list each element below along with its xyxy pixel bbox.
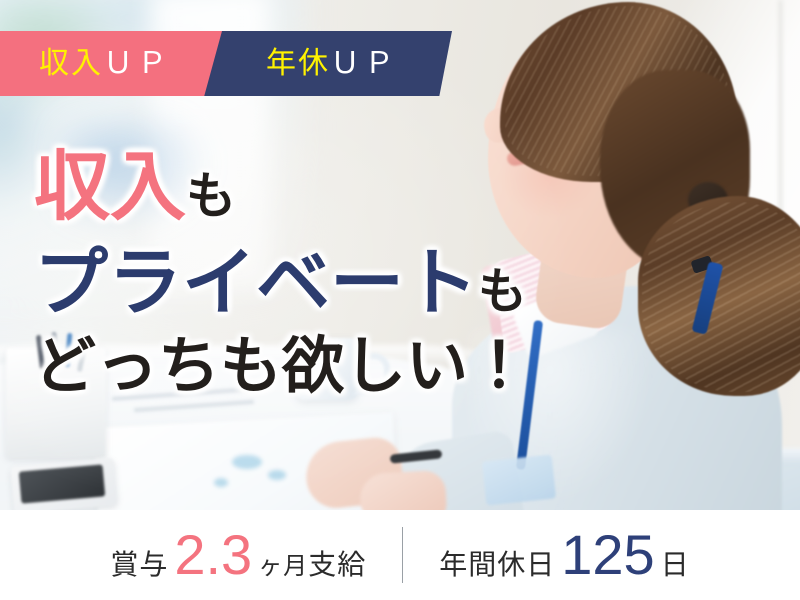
stat-bonus: 賞与 2.3 ヶ月 支給: [110, 527, 366, 583]
ribbon-holiday-up: ＵＰ: [330, 47, 398, 80]
poster-canvas: 収入ＵＰ 年休ＵＰ 収入も プライベートも どっちも欲しい！ 賞与 2.3 ヶ月…: [0, 0, 800, 600]
ribbon-segment-holiday: 年休ＵＰ: [200, 31, 452, 96]
ponytail-strand-texture: [642, 202, 800, 392]
stat-bonus-value: 2.3: [168, 527, 258, 583]
ribbon-segment-income: 収入ＵＰ: [0, 31, 222, 96]
headline-accent-income: 収入: [34, 145, 186, 230]
bottom-stats-bar: 賞与 2.3 ヶ月 支給 年間休日 125 日: [0, 510, 800, 600]
headline-block: 収入も プライベートも どっちも欲しい！: [34, 150, 574, 398]
stat-holidays-value: 125: [555, 527, 660, 583]
headline-line-3: どっちも欲しい！: [34, 336, 574, 398]
headline-line1-tail: も: [186, 168, 236, 224]
headline-line-1: 収入も: [34, 150, 574, 226]
ribbon-income-up: ＵＰ: [103, 47, 171, 80]
ribbon-holiday-highlight: 年休: [266, 47, 330, 80]
ribbon-text-holiday: 年休ＵＰ: [266, 49, 398, 79]
stat-holidays-unit: 日: [661, 543, 690, 583]
ribbon-text-income: 収入ＵＰ: [39, 49, 171, 79]
ribbon-income-highlight: 収入: [39, 47, 103, 80]
stat-bonus-unit-months: ヶ月: [258, 546, 308, 581]
top-ribbon: 収入ＵＰ 年休ＵＰ: [0, 31, 452, 96]
headline-line-2: プライベートも: [34, 246, 574, 320]
stat-bonus-unit-paid: 支給: [308, 543, 366, 583]
stat-bonus-label: 賞与: [110, 543, 168, 583]
id-badge: [482, 454, 556, 505]
stat-holidays: 年間休日 125 日: [439, 527, 689, 583]
headline-line2-tail: も: [478, 265, 527, 319]
headline-accent-private: プライベート: [34, 241, 478, 324]
stat-holidays-label: 年間休日: [439, 543, 555, 583]
stats-divider: [402, 527, 403, 583]
